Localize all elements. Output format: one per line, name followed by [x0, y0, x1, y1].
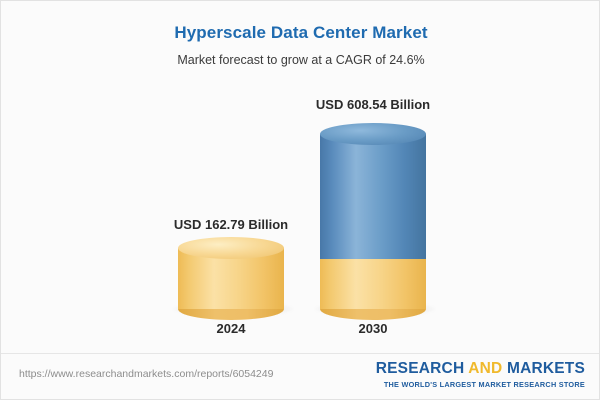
brand-logo[interactable]: RESEARCH AND MARKETS THE WORLD'S LARGEST… — [376, 360, 585, 389]
cylinder-top-ellipse-2024 — [178, 237, 284, 259]
cylinder-top-ellipse-2030 — [320, 123, 426, 145]
cylinder-body-2030-blue — [320, 134, 426, 259]
chart-card: Hyperscale Data Center Market Market for… — [0, 0, 600, 400]
footer: https://www.researchandmarkets.com/repor… — [1, 354, 599, 399]
plot-area: USD 162.79 Billion 2024 USD 608.54 Billi… — [1, 1, 600, 353]
logo-text-and: AND — [468, 360, 502, 377]
logo-tagline: THE WORLD'S LARGEST MARKET RESEARCH STOR… — [376, 380, 585, 389]
category-label-2024: 2024 — [151, 321, 311, 336]
bar-group-2024: USD 162.79 Billion 2024 — [151, 1, 311, 353]
cylinder-segment-2030-growth[interactable] — [320, 134, 426, 259]
category-label-2030: 2030 — [293, 321, 453, 336]
bar-group-2030: USD 608.54 Billion 2030 — [293, 1, 453, 353]
value-label-2030: USD 608.54 Billion — [273, 97, 473, 112]
cylinder-body-2030-gold — [320, 259, 426, 309]
cylinder-segment-2030-base[interactable] — [320, 259, 426, 309]
logo-text-research: RESEARCH — [376, 360, 469, 377]
cylinder-segment-2024-value[interactable] — [178, 248, 284, 309]
logo-text-markets: MARKETS — [502, 360, 585, 377]
logo-wordmark: RESEARCH AND MARKETS — [376, 360, 585, 378]
report-url[interactable]: https://www.researchandmarkets.com/repor… — [19, 368, 273, 380]
